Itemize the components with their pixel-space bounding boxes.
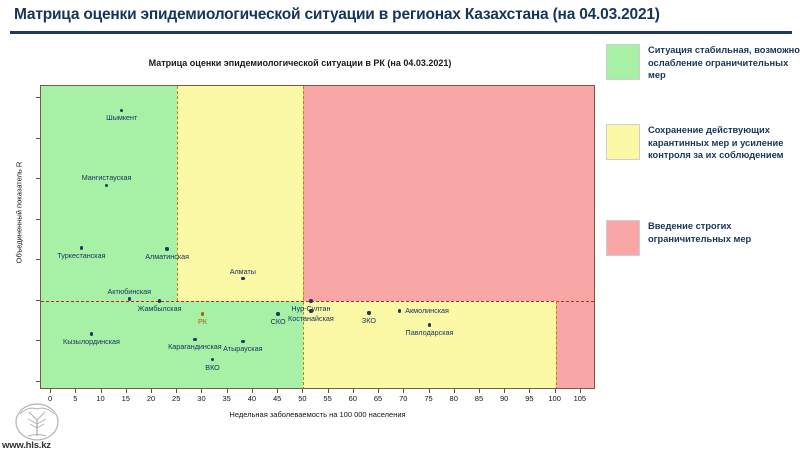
y-axis-label: Объединенный показатель R <box>15 63 24 363</box>
zone-red-upper <box>303 86 595 301</box>
zone-red-lower <box>556 301 595 389</box>
y-tick-mark <box>36 97 40 98</box>
x-tick-mark <box>252 389 253 393</box>
x-tick-label: 35 <box>215 394 239 403</box>
x-tick-mark <box>429 389 430 393</box>
data-point <box>165 247 168 250</box>
x-tick-mark <box>403 389 404 393</box>
data-point <box>80 246 83 249</box>
x-tick-mark <box>277 389 278 393</box>
x-tick-label: 75 <box>417 394 441 403</box>
x-tick-mark <box>302 389 303 393</box>
y-tick-mark <box>36 259 40 260</box>
x-tick-label: 95 <box>517 394 541 403</box>
x-tick-mark <box>101 389 102 393</box>
data-point <box>309 309 312 312</box>
x-tick-label: 25 <box>164 394 188 403</box>
x-tick-label: 45 <box>265 394 289 403</box>
data-point <box>128 297 131 300</box>
data-point-label: Акмолинская <box>405 306 449 315</box>
x-tick-label: 100 <box>543 394 567 403</box>
legend-item-label: Ситуация стабильная, возможно ослабление… <box>648 44 800 82</box>
x-tick-label: 70 <box>391 394 415 403</box>
data-point <box>367 311 370 314</box>
incidence-threshold-line-100 <box>556 301 557 389</box>
data-point-label: СКО <box>271 317 286 326</box>
plot-area: ШымкентМангистаускаяТуркестанскаяАлматин… <box>40 85 595 389</box>
data-point-label: Алматинская <box>145 252 189 261</box>
x-tick-label: 40 <box>240 394 264 403</box>
x-tick-mark <box>529 389 530 393</box>
header-divider <box>10 31 792 34</box>
y-tick-mark <box>36 340 40 341</box>
data-point <box>201 312 204 315</box>
data-point <box>241 340 244 343</box>
data-point-label: Атырауская <box>223 344 262 353</box>
chart-title: Матрица оценки эпидемиологической ситуац… <box>0 58 600 68</box>
data-point <box>193 338 196 341</box>
epidemiological-matrix-chart: Матрица оценки эпидемиологической ситуац… <box>0 36 600 452</box>
x-tick-label: 15 <box>114 394 138 403</box>
chart-legend: Ситуация стабильная, возможно ослабление… <box>604 36 800 452</box>
page-title: Матрица оценки эпидемиологической ситуац… <box>14 6 660 24</box>
x-tick-label: 65 <box>366 394 390 403</box>
x-tick-label: 80 <box>442 394 466 403</box>
x-tick-mark <box>328 389 329 393</box>
slide-body: Матрица оценки эпидемиологической ситуац… <box>0 36 800 452</box>
x-tick-mark <box>378 389 379 393</box>
x-tick-label: 60 <box>341 394 365 403</box>
x-axis-label: Недельная заболеваемость на 100 000 насе… <box>40 410 595 419</box>
legend-color-swatch <box>606 124 640 160</box>
x-tick-mark <box>75 389 76 393</box>
x-tick-mark <box>201 389 202 393</box>
y-tick-mark <box>36 300 40 301</box>
legend-item-label: Сохранение действующих карантинных мер и… <box>648 124 800 162</box>
x-tick-mark <box>176 389 177 393</box>
data-point-label: Павлодарская <box>406 328 454 337</box>
slide-header: Матрица оценки эпидемиологической ситуац… <box>0 0 800 36</box>
legend-color-swatch <box>606 44 640 80</box>
data-point-label: Кызылординская <box>63 337 120 346</box>
data-point-label: Мангистауская <box>82 173 132 182</box>
data-point-label: ВКО <box>205 363 220 372</box>
x-tick-label: 50 <box>290 394 314 403</box>
incidence-threshold-line-50 <box>303 86 304 389</box>
data-point <box>241 277 244 280</box>
y-tick-mark <box>36 138 40 139</box>
data-point <box>90 332 93 335</box>
x-tick-label: 55 <box>316 394 340 403</box>
x-tick-label: 30 <box>189 394 213 403</box>
x-tick-mark <box>227 389 228 393</box>
data-point-label: Карагандинская <box>168 342 222 351</box>
y-tick-mark <box>36 178 40 179</box>
watermark: www.hls.kz <box>2 402 80 452</box>
data-point <box>276 312 279 315</box>
data-point <box>309 299 312 302</box>
x-tick-mark <box>555 389 556 393</box>
legend-color-swatch <box>606 220 640 256</box>
data-point <box>158 299 161 302</box>
data-point-label: Шымкент <box>106 113 137 122</box>
watermark-text: www.hls.kz <box>2 440 51 451</box>
data-point-label: Жамбылская <box>138 304 182 313</box>
data-point-label: РК <box>198 317 207 326</box>
x-tick-mark <box>50 389 51 393</box>
x-tick-label: 20 <box>139 394 163 403</box>
x-tick-mark <box>126 389 127 393</box>
x-tick-mark <box>454 389 455 393</box>
r-threshold-line <box>41 301 594 302</box>
x-tick-mark <box>580 389 581 393</box>
x-tick-label: 90 <box>492 394 516 403</box>
legend-item-label: Введение строгих ограничительных мер <box>648 220 800 245</box>
data-point <box>428 323 431 326</box>
x-tick-label: 105 <box>568 394 592 403</box>
incidence-threshold-line-25 <box>177 86 178 301</box>
data-point-label: Туркестанская <box>57 251 105 260</box>
data-point <box>398 309 401 312</box>
x-tick-mark <box>504 389 505 393</box>
x-tick-mark <box>151 389 152 393</box>
data-point-label: Актюбинская <box>107 287 151 296</box>
x-tick-label: 10 <box>89 394 113 403</box>
data-point-label: ЗКО <box>362 316 376 325</box>
x-tick-mark <box>479 389 480 393</box>
data-point-label: Алматы <box>230 267 256 276</box>
y-tick-mark <box>36 219 40 220</box>
x-tick-mark <box>353 389 354 393</box>
tree-logo-icon <box>14 402 60 442</box>
x-tick-label: 85 <box>467 394 491 403</box>
data-point-label: Костанайская <box>288 314 334 323</box>
y-tick-mark <box>36 381 40 382</box>
